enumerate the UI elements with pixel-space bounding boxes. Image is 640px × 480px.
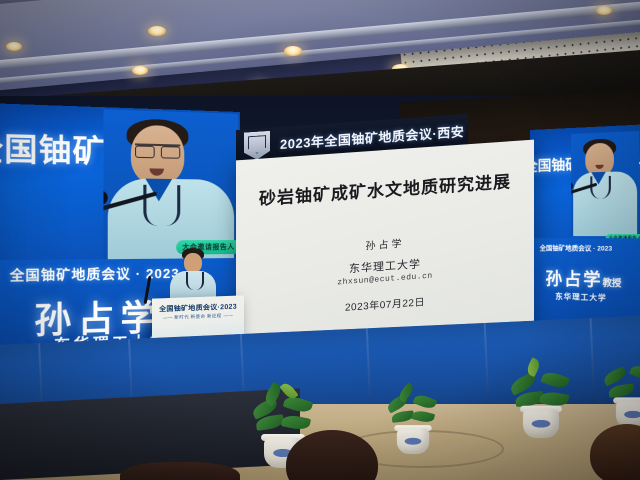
led-right-affiliation: 东华理工大学 — [555, 291, 606, 304]
plant-leaf — [281, 413, 311, 432]
speaker-lanyard — [186, 272, 204, 290]
led-right-speaker-name: 孙占学教授 — [545, 264, 621, 291]
speaker-lanyard — [143, 185, 180, 226]
led-right-name-text: 孙占学 — [545, 269, 602, 290]
potted-plant — [508, 362, 575, 438]
microphone-head-icon — [103, 190, 107, 205]
plant-leaf — [540, 369, 570, 391]
led-right-title-text: 教授 — [603, 278, 622, 289]
plant-leaf — [602, 366, 628, 386]
potted-plant — [602, 356, 640, 428]
plant-leaf — [413, 392, 438, 411]
ceiling-downlight — [6, 42, 22, 51]
plant-leaf — [629, 363, 640, 383]
ceiling-downlight — [596, 6, 612, 15]
ceiling-downlight — [284, 46, 302, 56]
speaker-video-feed-right — [571, 131, 639, 236]
audience-shoulder — [120, 462, 240, 480]
led-left-subline: 全国铀矿地质会议 · 2023 — [10, 263, 180, 285]
potted-plant — [383, 386, 443, 454]
speaker-head — [184, 253, 202, 273]
speaker-lanyard — [590, 176, 611, 199]
conference-hall-photo: 全国铀矿地质会议· 大会邀请报告人 全国铀矿地质会议 · 2023 孙占学 东华… — [0, 0, 640, 480]
ceiling-downlight — [148, 26, 166, 36]
plant-leaf — [411, 409, 435, 424]
projection-slide: 砂岩铀矿成矿水文地质研究进展 孙占学 东华理工大学 zhxsun@ecut.ed… — [236, 140, 534, 351]
speaker-video-feed-left — [103, 109, 238, 261]
led-right-subline: 全国铀矿地质会议 · 2023 — [540, 242, 613, 253]
plant-pot — [397, 429, 429, 455]
plant-pot — [523, 410, 559, 439]
plant-leaf — [283, 394, 314, 415]
plant-leaf — [608, 384, 634, 398]
ceiling-downlight — [132, 66, 148, 75]
slide-content: 砂岩铀矿成矿水文地质研究进展 孙占学 东华理工大学 zhxsun@ecut.ed… — [236, 140, 534, 351]
slide-title: 砂岩铀矿成矿水文地质研究进展 — [236, 166, 534, 212]
skirt-fold — [590, 318, 596, 414]
glasses-icon — [135, 143, 180, 156]
led-screen-right: 全国铀矿地质会议· 大会邀请报告人 全国铀矿地质会议 · 2023 孙占学教授 … — [530, 125, 640, 341]
conference-crest-icon — [244, 131, 270, 161]
